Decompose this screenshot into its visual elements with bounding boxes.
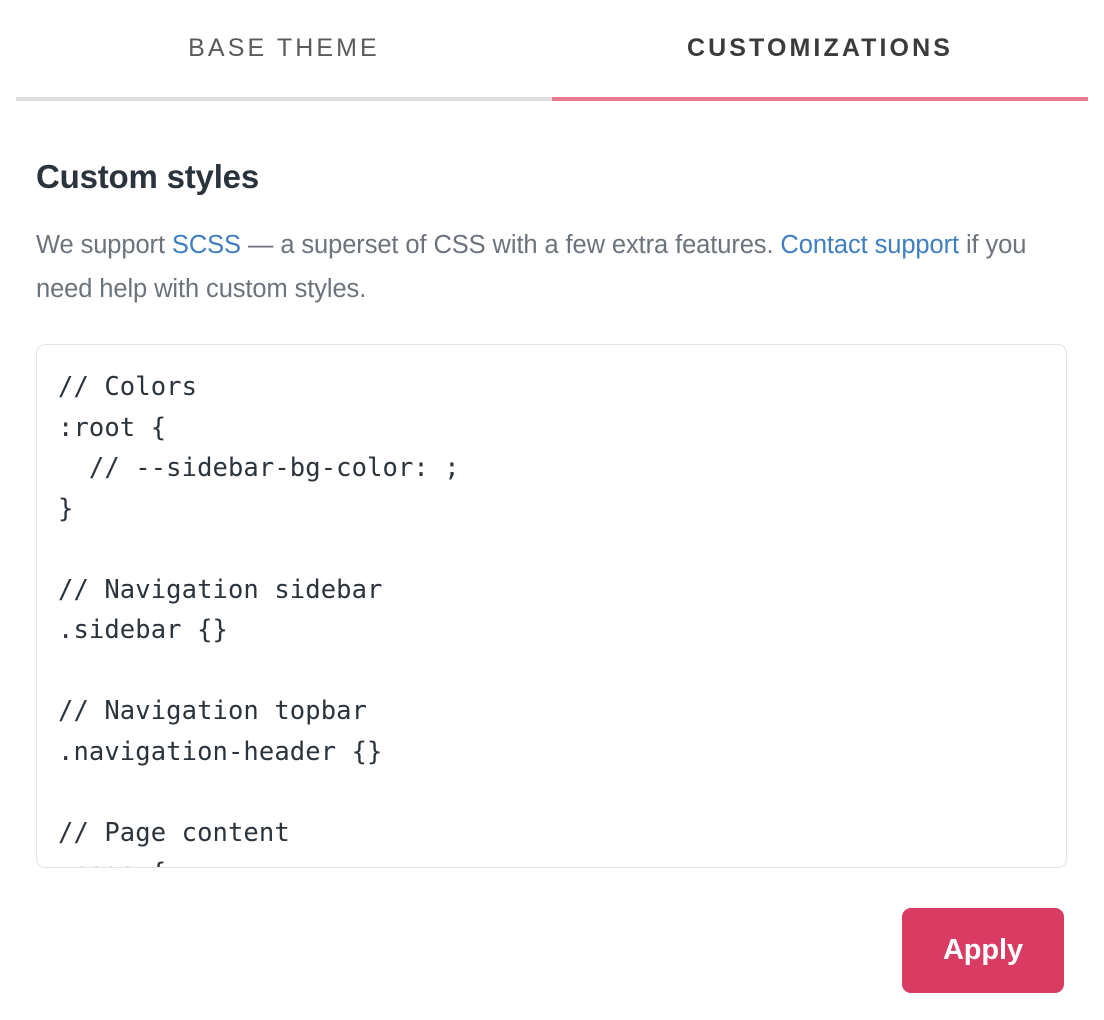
panel-content: Custom styles We support SCSS — a supers… xyxy=(0,101,1104,868)
tab-base-theme[interactable]: BASE THEME xyxy=(16,0,552,97)
code-line: // Colors xyxy=(58,367,1066,408)
contact-support-link[interactable]: Contact support xyxy=(780,231,959,259)
description-text-2: — a superset of CSS with a few extra fea… xyxy=(241,231,780,259)
tab-customizations[interactable]: CUSTOMIZATIONS xyxy=(552,0,1088,97)
apply-button[interactable]: Apply xyxy=(902,908,1064,993)
tab-underline-base-theme xyxy=(16,97,552,101)
code-line-blank xyxy=(58,772,1066,813)
code-line: // Navigation topbar xyxy=(58,691,1066,732)
scss-link[interactable]: SCSS xyxy=(172,231,241,259)
code-line-blank xyxy=(58,651,1066,692)
code-line: // Page content xyxy=(58,813,1066,854)
code-line: :root { xyxy=(58,408,1066,449)
code-line: // --sidebar-bg-color: ; xyxy=(58,448,1066,489)
description-text-1: We support xyxy=(36,231,172,259)
code-line-blank xyxy=(58,529,1066,570)
panel-footer: Apply xyxy=(902,908,1064,993)
code-line: // Navigation sidebar xyxy=(58,570,1066,611)
scss-code-editor[interactable]: // Colors :root { // --sidebar-bg-color:… xyxy=(36,344,1067,868)
code-editor-lines: // Colors :root { // --sidebar-bg-color:… xyxy=(37,345,1066,868)
code-line: .sidebar {} xyxy=(58,610,1066,651)
code-line: .navigation-header {} xyxy=(58,732,1066,773)
tab-underline xyxy=(16,97,1088,101)
code-line: } xyxy=(58,489,1066,530)
tab-bar: BASE THEME CUSTOMIZATIONS xyxy=(16,0,1088,97)
tab-underline-customizations xyxy=(552,97,1088,101)
theme-customization-panel: BASE THEME CUSTOMIZATIONS Custom styles … xyxy=(0,0,1104,1020)
page-title: Custom styles xyxy=(36,101,1068,196)
tab-base-theme-label: BASE THEME xyxy=(188,34,380,63)
section-description: We support SCSS — a superset of CSS with… xyxy=(36,196,1068,311)
code-line: .page { xyxy=(58,853,1066,868)
tab-customizations-label: CUSTOMIZATIONS xyxy=(687,34,953,63)
